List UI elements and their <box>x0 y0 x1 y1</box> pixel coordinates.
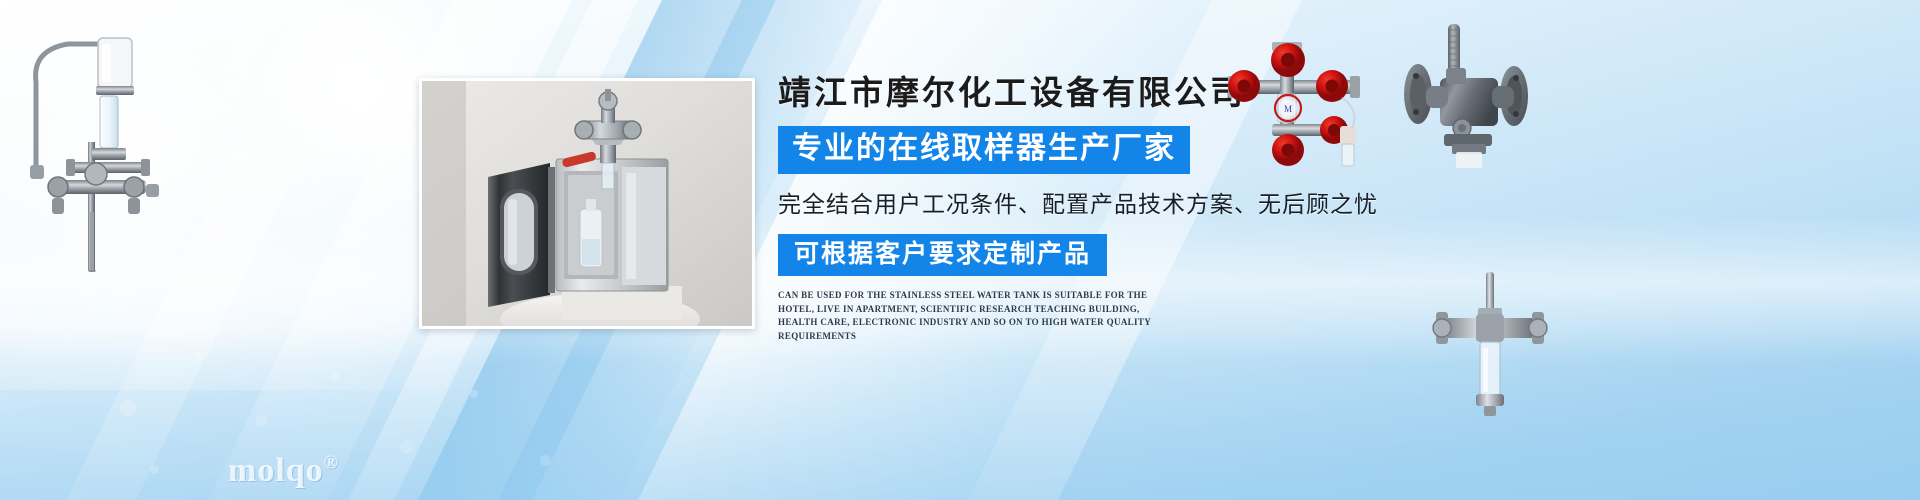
right-product-inline-sampler <box>1420 270 1570 420</box>
droplet <box>255 415 267 427</box>
sun-ray <box>244 0 362 70</box>
sun-ray <box>278 67 360 109</box>
svg-text:M: M <box>1284 104 1292 114</box>
sun-ray <box>360 0 470 72</box>
sun-ray <box>358 70 416 142</box>
sun-ray <box>225 67 360 101</box>
watermark-text: molqo <box>228 452 324 489</box>
droplet <box>120 400 136 416</box>
sun-ray <box>360 0 404 71</box>
sun-ray <box>337 69 360 157</box>
sun-ray <box>360 0 529 73</box>
sun-ray <box>360 0 464 71</box>
sun-ray <box>258 0 362 70</box>
sun-ray <box>357 70 360 304</box>
promotional-banner: 靖江市摩尔化工设备有限公司 专业的在线取样器生产厂家 完全结合用户工况条件、配置… <box>0 0 1920 500</box>
right-product-cross-sampler: M <box>1214 38 1394 168</box>
subline-text: 完全结合用户工况条件、配置产品技术方案、无后顾之忧 <box>778 189 1418 219</box>
droplet <box>330 372 339 381</box>
droplet <box>300 330 306 336</box>
sun-ray <box>242 68 360 215</box>
droplet <box>150 465 159 474</box>
sun-ray <box>279 28 361 70</box>
watermark-logo: molqo® <box>228 452 339 490</box>
sun-ray <box>357 70 401 252</box>
sun-ray <box>360 0 363 70</box>
tagline-primary-badge: 专业的在线取样器生产厂家 <box>778 126 1190 174</box>
droplet <box>400 440 414 454</box>
registered-mark: ® <box>324 453 339 474</box>
sun-ray <box>174 67 360 70</box>
sun-ray <box>340 0 363 70</box>
sun-ray <box>357 70 420 196</box>
sun-ray <box>360 18 589 73</box>
sun-ray <box>297 69 360 195</box>
droplet <box>540 455 551 466</box>
right-product-lever-valve <box>1392 18 1542 168</box>
droplet <box>195 352 202 359</box>
center-product-photo <box>419 78 755 329</box>
droplet <box>60 330 70 340</box>
tagline-secondary-badge: 可根据客户要求定制产品 <box>778 234 1107 276</box>
sun-ray <box>252 0 362 70</box>
english-caption: CAN BE USED FOR THE STAINLESS STEEL WATE… <box>778 289 1178 343</box>
sun-ray <box>360 70 450 73</box>
sun-ray <box>175 68 360 216</box>
left-product-image <box>10 22 180 272</box>
droplet <box>470 390 478 398</box>
sun-ray <box>360 0 418 72</box>
